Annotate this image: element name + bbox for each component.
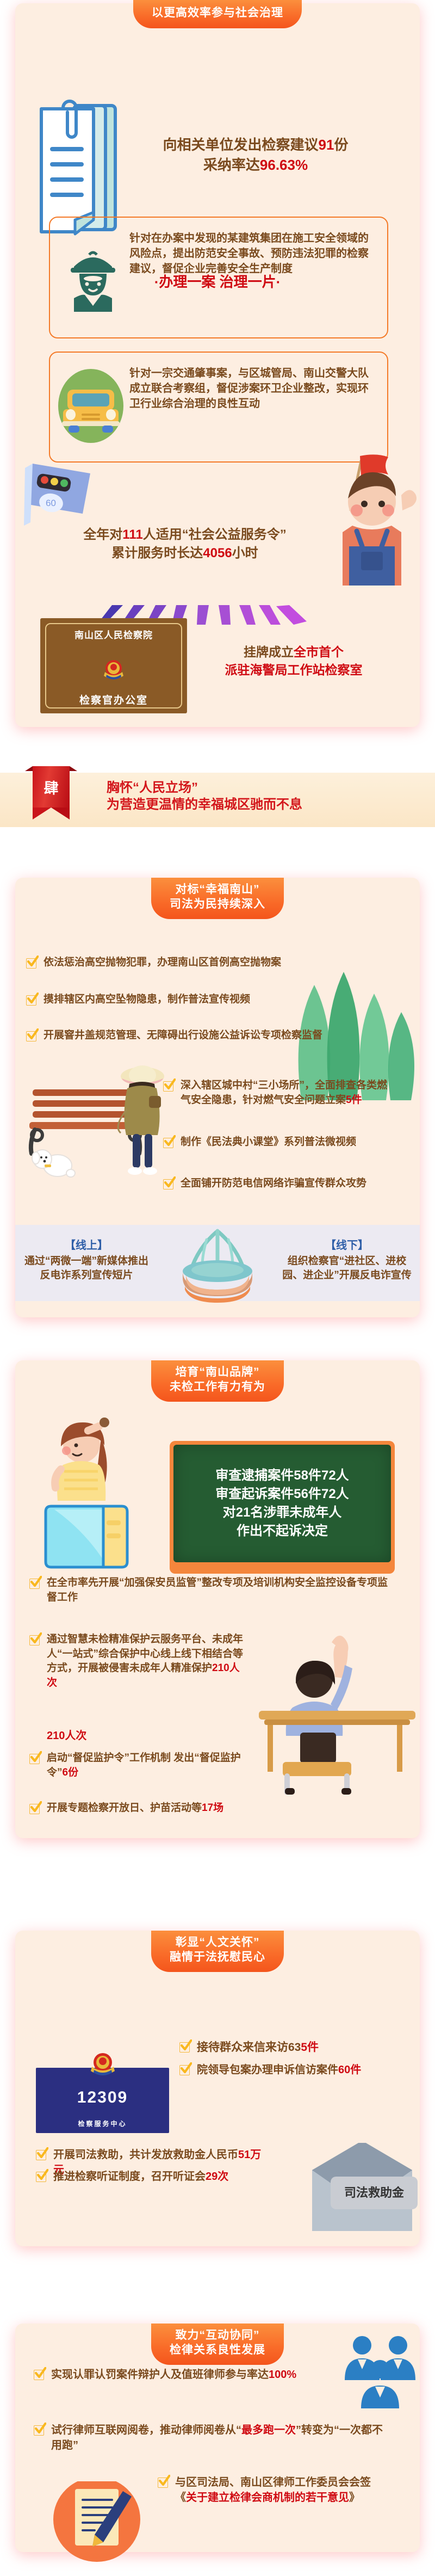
check-icon xyxy=(26,1030,38,1043)
check-icon xyxy=(36,2170,48,2183)
nanshan-brand-check-2-tail: 210人次 xyxy=(47,1728,210,1743)
case-card-traffic-text: 针对一宗交通肇事案，与区城管局、南山交警大队成立联合考察组，督促涉案环卫企业整改… xyxy=(129,366,374,411)
girl-telescope-icon xyxy=(42,1412,140,1575)
sanitation-truck-icon xyxy=(55,368,126,449)
plaque-caption-line1: 挂牌成立全市首个 xyxy=(196,643,391,661)
tab-interaction: 致力“互动协同” 检律关系良性发展 xyxy=(151,2324,284,2365)
blackboard-line-3: 作出不起诉决定 xyxy=(215,1522,349,1540)
document-pen-icon xyxy=(50,2481,148,2568)
check-item: 在全市率先开展“加强保安员监管”整改专项及培训机构安全监控设备专项监督工作 xyxy=(29,1576,388,1605)
offline-label: 【线下】 xyxy=(282,1236,412,1252)
case-card-construction-text: 针对在办案中发现的某建筑集团在施工安全领域的风险点，提出防范安全事故、预防违法犯… xyxy=(129,231,374,276)
check-item: 接待群众来信来访635件 xyxy=(179,2039,397,2055)
check-icon xyxy=(29,1634,41,1647)
grass-decoration-icon xyxy=(283,948,419,1100)
check-item: 制作《民法典小课堂》系列普法微视频 xyxy=(163,1135,387,1150)
check-icon xyxy=(158,2476,170,2489)
lawyers-group-icon xyxy=(339,2333,421,2415)
check-icon xyxy=(34,2368,46,2381)
check-label: 与区司法局、南山区律师工作委员会会签《关于建立检律会商机制的若干意见》 xyxy=(175,2475,391,2505)
online-block: 【线上】 通过“两微一端”新媒体推出反电诈系列宣传短片 xyxy=(24,1236,149,1282)
blackboard-line-2: 对21名涉罪未成年人 xyxy=(215,1503,349,1522)
check-icon xyxy=(163,1178,175,1191)
tab-interaction-line1: 致力“互动协同” xyxy=(170,2328,265,2343)
tab-nanshan-brand-line1: 培育“南山品牌” xyxy=(170,1365,265,1380)
envelope-label: 司法救助金 xyxy=(331,2177,418,2209)
badge-12309-subtitle: 检察服务中心 xyxy=(36,2119,169,2128)
tab-interaction-line2: 检律关系良性发展 xyxy=(170,2343,265,2358)
check-label: 全面铺开防范电信网络诈骗宣传群众攻势 xyxy=(181,1176,366,1191)
svg-text:60: 60 xyxy=(46,498,56,508)
plaque-caption: 挂牌成立全市首个 派驻海警局工作站检察室 xyxy=(196,643,391,679)
check-label: 摸排辖区内高空坠物隐患，制作普法宣传视频 xyxy=(43,993,250,1007)
blackboard-surface: 审查逮捕案件58件72人 审查起诉案件56件72人 对21名涉罪未成年人 作出不… xyxy=(173,1445,391,1562)
service-order-line1: 全年对111人适用“社会公益服务令” xyxy=(33,526,337,544)
check-icon xyxy=(26,957,38,970)
check-label: 实现认罪认罚案件辩护人及值班律师参与率达100% xyxy=(51,2367,296,2382)
tab-humanistic-care-line2: 融情于法抚慰民心 xyxy=(170,1950,265,1965)
check-item: 启动“督促监护令”工作机制 发出“督促监护令”6份 xyxy=(29,1751,258,1780)
online-label: 【线上】 xyxy=(24,1236,149,1252)
check-icon xyxy=(34,2424,46,2437)
tab-happy-nanshan-line1: 对标“幸福南山” xyxy=(170,883,265,897)
check-label: 制作《民法典小课堂》系列普法微视频 xyxy=(181,1135,356,1150)
check-label: 开展专题检察开放日、护苗活动等17场 xyxy=(47,1801,223,1816)
efficiency-stat-block: 向相关单位发出检察建议91份 采纳率达96.63% xyxy=(125,135,386,175)
student-raising-hand-icon xyxy=(254,1615,418,1795)
check-label: 启动“督促监护令”工作机制 发出“督促监护令”6份 xyxy=(47,1751,258,1780)
blackboard-line-0: 审查逮捕案件58件72人 xyxy=(215,1466,349,1485)
construction-worker-icon xyxy=(63,244,123,312)
check-item: 实现认罪认罚案件辩护人及值班律师参与率达100% xyxy=(34,2367,316,2382)
check-label: 开展窨井盖规范管理、无障碍出行设施公益诉讼专项检察监督 xyxy=(43,1028,322,1043)
plaque-line2: 检察官办公室 xyxy=(40,692,187,707)
check-label: 院领导包案办理申诉信访案件60件 xyxy=(197,2062,361,2078)
offline-block: 【线下】 组织检察官“进社区、进校园、进企业”开展反电诈宣传 xyxy=(282,1236,412,1282)
infographic-page: 以更高效率参与社会治理 向相关单位发出检察建议91份 采纳率达96.63% ·办… xyxy=(0,0,435,2576)
blackboard-line-1: 审查起诉案件56件72人 xyxy=(215,1485,349,1503)
traffic-light-sign-icon: 60 xyxy=(18,460,95,531)
tab-nanshan-brand-line2: 未检工作有力有为 xyxy=(170,1380,265,1395)
check-item: 开展窨井盖规范管理、无障碍出行设施公益诉讼专项检察监督 xyxy=(26,1028,352,1043)
tab-efficiency: 以更高效率参与社会治理 xyxy=(133,0,302,28)
tab-nanshan-brand: 培育“南山品牌” 未检工作有力有为 xyxy=(151,1360,284,1402)
check-label: 在全市率先开展“加强保安员监管”整改专项及培训机构安全监控设备专项监督工作 xyxy=(47,1576,388,1605)
procuratorate-emblem-icon xyxy=(102,657,126,681)
tab-efficiency-label: 以更高效率参与社会治理 xyxy=(152,6,283,21)
section-four-title-line2: 为营造更温情的幸福城区驰而不息 xyxy=(107,796,422,813)
check-label: 深入辖区城中村“三小场所”，全面排查各类燃气安全隐患，针对燃气安全问题立案5件 xyxy=(181,1079,387,1107)
check-label: 依法惩治高空抛物犯罪，办理南山区首例高空抛物案 xyxy=(43,956,281,970)
section-four-number: 肆 xyxy=(33,766,70,808)
tab-happy-nanshan-line2: 司法为民持续深入 xyxy=(170,897,265,912)
check-icon xyxy=(163,1080,175,1093)
check-item: 全面铺开防范电信网络诈骗宣传群众攻势 xyxy=(163,1176,387,1191)
check-icon xyxy=(163,1136,175,1149)
check-item: 推进检察听证制度，召开听证会29次 xyxy=(36,2169,253,2184)
ribbon-wing-right xyxy=(70,766,77,771)
check-item: 院领导包案办理申诉信访案件60件 xyxy=(179,2062,397,2078)
section-four-ribbon: 肆 xyxy=(33,766,70,808)
check-icon xyxy=(36,2148,48,2161)
efficiency-stat-line2: 采纳率达96.63% xyxy=(125,155,386,175)
plaque-caption-line2: 派驻海警局工作站检察室 xyxy=(196,661,391,679)
check-icon xyxy=(29,1577,41,1590)
tab-humanistic-care-line1: 彰显“人文关怀” xyxy=(170,1936,265,1950)
online-text: 通过“两微一端”新媒体推出反电诈系列宣传短片 xyxy=(24,1254,149,1282)
ribbon-wing-left xyxy=(25,766,33,771)
fountain-icon xyxy=(152,1229,283,1303)
check-item: 开展专题检察开放日、护苗活动等17场 xyxy=(29,1801,334,1816)
efficiency-stat-line1: 向相关单位发出检察建议91份 xyxy=(125,135,386,155)
service-order-line2: 累计服务时长达4056小时 xyxy=(33,544,337,563)
check-label: 推进检察听证制度，召开听证会29次 xyxy=(53,2169,228,2184)
blackboard: 审查逮捕案件58件72人 审查起诉案件56件72人 对21名涉罪未成年人 作出不… xyxy=(170,1441,395,1574)
check-icon xyxy=(29,1802,41,1815)
check-icon xyxy=(179,2063,191,2076)
white-dog-icon xyxy=(32,1143,77,1181)
check-item: 试行律师互联网阅卷，推动律师阅卷从“最多跑一次”转变为“一次都不用跑” xyxy=(34,2423,393,2453)
check-item: 依法惩治高空抛物犯罪，办理南山区首例高空抛物案 xyxy=(26,956,385,970)
check-label: 通过智慧未检精准保护云服务平台、未成年人“一站式”综合保护中心线上线下相结合等方… xyxy=(47,1632,247,1690)
check-label: 试行律师互联网阅卷，推动律师阅卷从“最多跑一次”转变为“一次都不用跑” xyxy=(51,2423,393,2453)
check-label: 接待群众来信来访635件 xyxy=(197,2039,319,2055)
section-four-title-line1: 胸怀“人民立场” xyxy=(107,779,422,796)
tab-humanistic-care: 彰显“人文关怀” 融情于法抚慰民心 xyxy=(151,1931,284,1972)
procuratorate-emblem-icon xyxy=(89,2050,117,2079)
tab-happy-nanshan: 对标“幸福南山” 司法为民持续深入 xyxy=(151,878,284,919)
plaque-office-sign: 南山区人民检察院 检察官办公室 xyxy=(40,618,187,713)
check-item: 与区司法局、南山区律师工作委员会会签《关于建立检律会商机制的若干意见》 xyxy=(158,2475,391,2505)
service-order-stats: 全年对111人适用“社会公益服务令” 累计服务时长达4056小时 xyxy=(33,526,337,563)
plaque-line1: 南山区人民检察院 xyxy=(40,627,187,641)
check-icon xyxy=(26,994,38,1007)
section-four-title: 胸怀“人民立场” 为营造更温情的幸福城区驰而不息 xyxy=(107,779,422,813)
check-item: 摸排辖区内高空坠物隐患，制作普法宣传视频 xyxy=(26,993,385,1007)
check-icon xyxy=(179,2041,191,2054)
offline-text: 组织检察官“进社区、进校园、进企业”开展反电诈宣传 xyxy=(282,1254,412,1282)
badge-12309-number: 12309 xyxy=(36,2088,169,2107)
check-item: 通过智慧未检精准保护云服务平台、未成年人“一站式”综合保护中心线上线下相结合等方… xyxy=(29,1632,247,1690)
child-with-flag-icon xyxy=(314,449,423,586)
check-item: 深入辖区城中村“三小场所”，全面排查各类燃气安全隐患，针对燃气安全问题立案5件 xyxy=(163,1079,387,1107)
check-icon xyxy=(29,1752,41,1765)
badge-12309: 12309 检察服务中心 xyxy=(36,2068,169,2133)
